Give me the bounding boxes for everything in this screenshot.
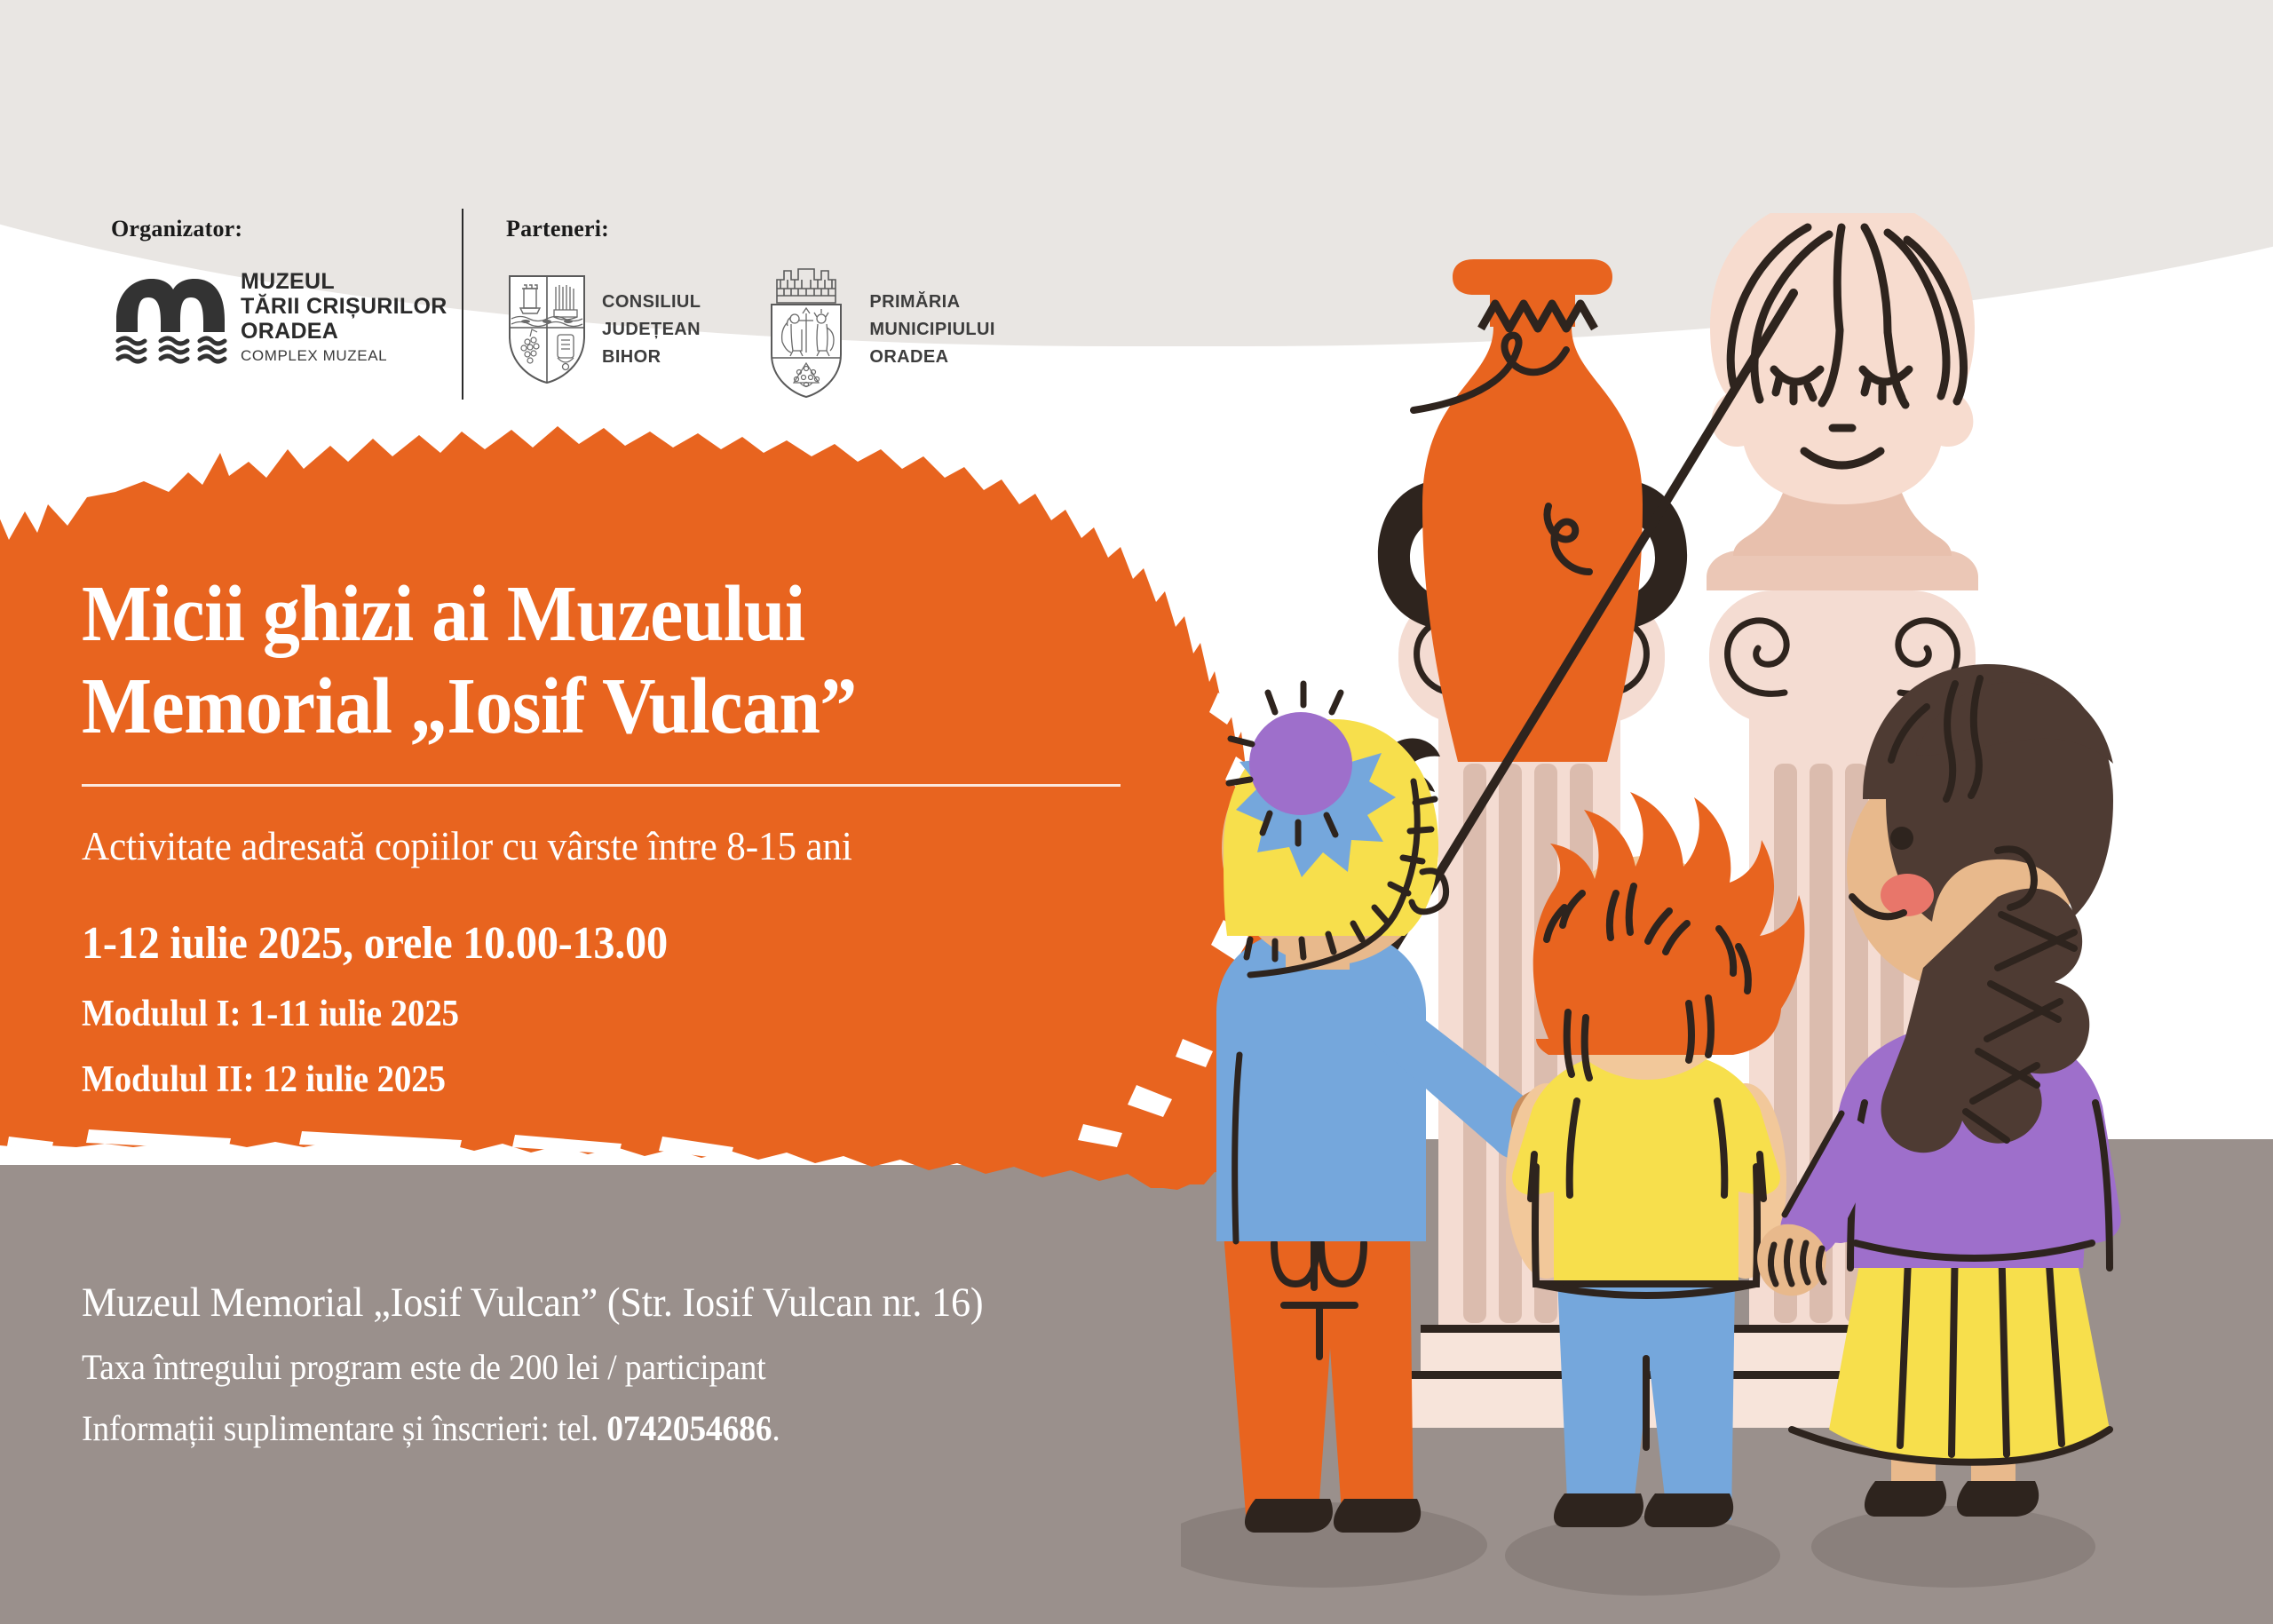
partner-bihor-line2: JUDEȚEAN <box>602 316 701 344</box>
event-dateline: 1-12 iulie 2025, orele 10.00-13.00 <box>82 917 1138 970</box>
shadow-child-left <box>1181 1502 1487 1588</box>
shadow-child-middle <box>1505 1516 1780 1596</box>
partner-bihor-line1: CONSILIUL <box>602 289 701 316</box>
module-one: Modulul I: 1-11 iulie 2025 <box>82 993 1138 1035</box>
organizer-label: Organizator: <box>111 216 447 242</box>
title-rule <box>82 784 1121 787</box>
organizer-block: Organizator: <box>111 216 447 365</box>
partner-bihor-line3: BIHOR <box>602 344 701 371</box>
organizer-subtitle: COMPLEX MUZEAL <box>241 347 447 365</box>
organizer-name-line3: ORADEA <box>241 319 447 344</box>
marble-bust-icon <box>1707 213 1978 590</box>
bihor-county-crest-icon <box>506 273 588 386</box>
illustration-museum-scene <box>1181 213 2273 1624</box>
organizer-name-line2: TĂRII CRIȘURILOR <box>241 294 447 319</box>
partner-bihor-text: CONSILIUL JUDEȚEAN BIHOR <box>602 289 701 371</box>
page-title-line2: Memorial „Iosif Vulcan” <box>82 661 1138 753</box>
page-subtitle: Activitate adresată copiilor cu vârste î… <box>82 822 1150 869</box>
venue-address: Muzeul Memorial „Iosif Vulcan” (Str. Ios… <box>82 1279 1167 1327</box>
partners-label: Parteneri: <box>506 216 1052 242</box>
program-fee: Taxa întregului program este de 200 lei … <box>82 1346 1167 1388</box>
header-divider <box>462 209 463 400</box>
partner-oradea-text: PRIMĂRIA MUNICIPIULUI ORADEA <box>869 289 994 371</box>
contact-line: Informații suplimentare și înscrieri: te… <box>82 1407 1167 1449</box>
poster-canvas: Organizator: <box>0 0 2273 1624</box>
oradea-city-crest-icon <box>757 258 855 400</box>
partner-oradea-line3: ORADEA <box>869 344 994 371</box>
partner-oradea-line1: PRIMĂRIA <box>869 289 994 316</box>
page-title-line1: Micii ghizi ai Muzeului <box>82 568 1138 661</box>
shadow-child-girl <box>1811 1506 2095 1588</box>
partner-oradea-line2: MUNICIPIULUI <box>869 316 994 344</box>
organizer-name-line1: MUZEUL <box>241 269 447 294</box>
contact-prefix: Informații suplimentare și înscrieri: te… <box>82 1408 606 1448</box>
contact-suffix: . <box>772 1408 780 1448</box>
footer-info: Muzeul Memorial „Iosif Vulcan” (Str. Ios… <box>82 1279 1236 1449</box>
header-credits: Organizator: <box>0 191 1110 413</box>
module-two: Modulul II: 12 iulie 2025 <box>82 1058 1138 1101</box>
partners-block: Parteneri: <box>506 216 1052 400</box>
main-text-block: Micii ghizi ai Muzeului Memorial „Iosif … <box>82 568 1218 1101</box>
museum-m-logo-icon <box>111 270 228 364</box>
contact-phone[interactable]: 0742054686 <box>606 1408 772 1448</box>
